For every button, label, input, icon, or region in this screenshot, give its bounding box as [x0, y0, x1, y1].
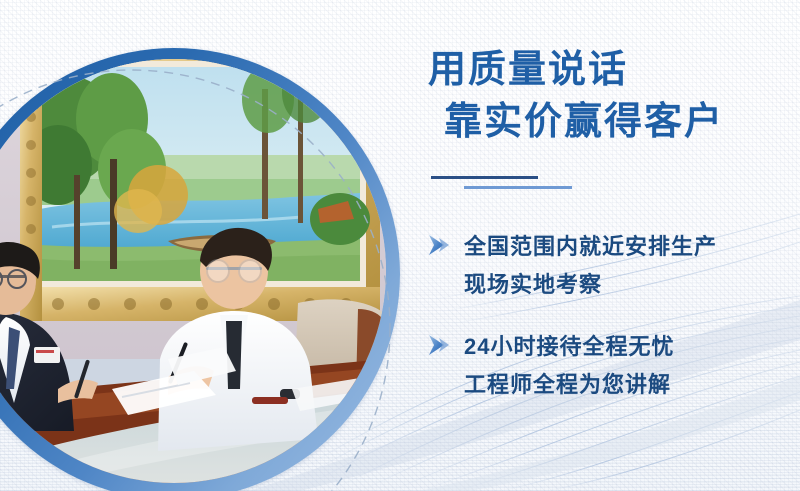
- bullet-text-primary: 全国范围内就近安排生产: [464, 228, 717, 266]
- arrow-right-icon: [426, 332, 452, 358]
- headline-block: 用质量说话 靠实价赢得客户: [428, 44, 800, 148]
- headline-line-1: 用质量说话: [428, 44, 800, 96]
- decorative-dashed-arc: [0, 50, 412, 491]
- bullet-text-primary: 24小时接待全程无忧: [464, 328, 674, 366]
- divider-light: [464, 186, 572, 189]
- content-panel: 用质量说话 靠实价赢得客户: [424, 0, 800, 491]
- bullet-list: 全国范围内就近安排生产 现场实地考察: [424, 228, 800, 428]
- divider-dark: [431, 176, 538, 179]
- bullet-text-secondary: 工程师全程为您讲解: [464, 366, 674, 404]
- circular-photo: [0, 48, 400, 491]
- bullet-item: 全国范围内就近安排生产 现场实地考察: [424, 228, 800, 304]
- arrow-right-icon: [426, 232, 452, 258]
- promo-banner: 用质量说话 靠实价赢得客户: [0, 0, 800, 491]
- bullet-text-secondary: 现场实地考察: [464, 266, 717, 304]
- bullet-item: 24小时接待全程无忧 工程师全程为您讲解: [424, 328, 800, 404]
- headline-line-2: 靠实价赢得客户: [428, 96, 800, 148]
